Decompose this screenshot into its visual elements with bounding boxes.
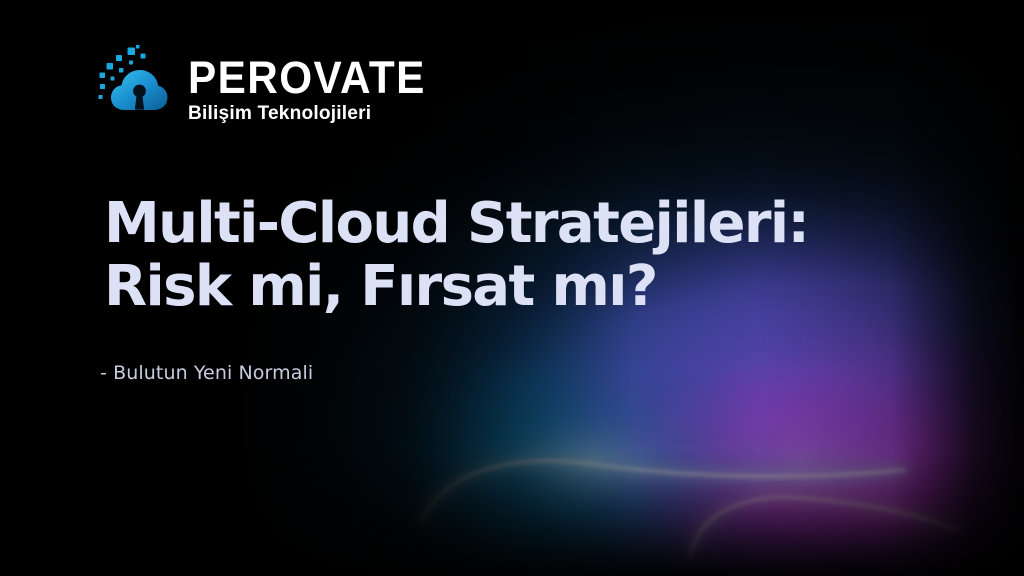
brand-tagline: Bilişim Teknolojileri (188, 103, 436, 124)
page-title-line-1: Multi-Cloud Stratejileri: (104, 192, 808, 255)
slide-canvas: PEROVATE Bilişim Teknolojileri Multi-Clo… (0, 0, 1024, 576)
brand-wordmark-group: PEROVATE Bilişim Teknolojileri (188, 44, 441, 125)
brand-logo-lockup[interactable]: PEROVATE Bilişim Teknolojileri (96, 44, 441, 140)
brand-name: PEROVATE (188, 56, 426, 100)
cloud-keyhole-pixel-icon (96, 44, 180, 140)
page-title-line-2: Risk mi, Fırsat mı? (104, 255, 808, 318)
page-title: Multi-Cloud Stratejileri: Risk mi, Fırsa… (104, 192, 808, 319)
page-subtitle: - Bulutun Yeni Normali (100, 362, 313, 384)
